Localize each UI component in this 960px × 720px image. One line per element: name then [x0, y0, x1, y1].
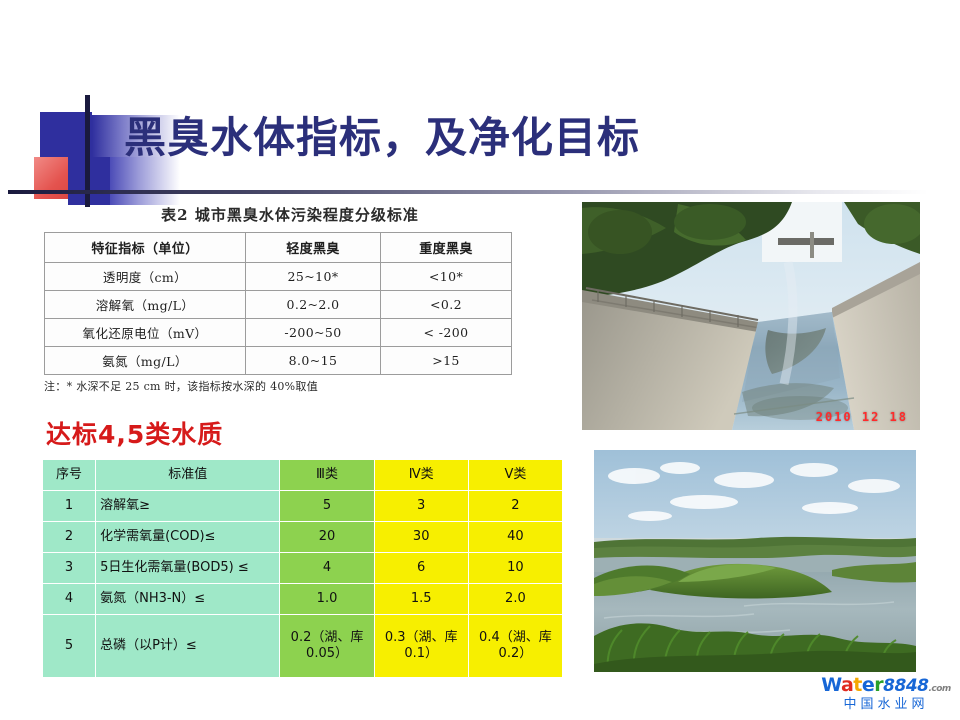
red-heading: 达标4,5类水质 [46, 415, 223, 451]
photo-urban-canal-image [582, 202, 920, 430]
watermark-letter-r: r [874, 674, 883, 696]
table-row: 5 总磷（以P计）≤ 0.2（湖、库0.05） 0.3（湖、库0.1） 0.4（… [43, 615, 562, 677]
watermark-subtitle: 中国水业网 [818, 698, 954, 711]
header-class-5: Ⅴ类 [469, 460, 562, 490]
cell-class-3: 4 [280, 553, 373, 583]
standards-table-block: 序号 标准值 Ⅲ类 Ⅳ类 Ⅴ类 1 溶解氧≥ 5 3 2 2 化学需氧量(COD… [42, 459, 563, 678]
watermark-number: 8848 [883, 676, 928, 696]
cell-class-3: 5 [280, 491, 373, 521]
cell-class-4: 6 [375, 553, 468, 583]
cell-class-4: 1.5 [375, 584, 468, 614]
table-row: 氨氮（mg/L） 8.0~15 >15 [45, 347, 512, 375]
table-row: 透明度（cm） 25~10* <10* [45, 263, 512, 291]
watermark-letter-a: a [841, 674, 853, 696]
watermark-letter-w: W [821, 674, 841, 696]
photo-date-stamp: 2010 12 18 [816, 410, 908, 424]
cell-class-5: 2.0 [469, 584, 562, 614]
cell-no: 1 [43, 491, 95, 521]
header-class-4: Ⅳ类 [375, 460, 468, 490]
header-value: 标准值 [96, 460, 279, 490]
cell-heavy: <10* [381, 263, 512, 291]
title-divider-rule [8, 190, 928, 194]
page-title: 黑臭水体指标，及净化目标 [124, 104, 640, 165]
cell-no: 4 [43, 584, 95, 614]
cell-class-4: 3 [375, 491, 468, 521]
cell-name: 溶解氧≥ [96, 491, 279, 521]
watermark-letter-t: t [853, 674, 862, 696]
table-row: 溶解氧（mg/L） 0.2~2.0 <0.2 [45, 291, 512, 319]
cell-class-4: 30 [375, 522, 468, 552]
header-no: 序号 [43, 460, 95, 490]
watermark-tld: .com [928, 684, 950, 694]
scanned-table: 特征指标（单位） 轻度黑臭 重度黑臭 透明度（cm） 25~10* <10* 溶… [44, 232, 512, 375]
standards-table: 序号 标准值 Ⅲ类 Ⅳ类 Ⅴ类 1 溶解氧≥ 5 3 2 2 化学需氧量(COD… [42, 459, 563, 678]
photo-wetland-image [594, 450, 916, 672]
cell-no: 5 [43, 615, 95, 677]
cell-indicator: 透明度（cm） [45, 263, 246, 291]
photo-wetland [594, 450, 916, 672]
scanned-table-footnote: 注：* 水深不足 25 cm 时，该指标按水深的 40%取值 [44, 378, 514, 394]
cell-heavy: < -200 [381, 319, 512, 347]
cell-no: 3 [43, 553, 95, 583]
cell-light: 0.2~2.0 [246, 291, 381, 319]
header-light: 轻度黑臭 [246, 233, 381, 263]
cell-class-5: 40 [469, 522, 562, 552]
cell-class-3: 20 [280, 522, 373, 552]
cell-name: 5日生化需氧量(BOD5) ≤ [96, 553, 279, 583]
header-indicator: 特征指标（单位） [45, 233, 246, 263]
scanned-table-caption: 表2 城市黑臭水体污染程度分级标准 [66, 204, 514, 225]
cell-class-4: 0.3（湖、库0.1） [375, 615, 468, 677]
table-header-row: 序号 标准值 Ⅲ类 Ⅳ类 Ⅴ类 [43, 460, 562, 490]
watermark-letter-e: e [862, 674, 874, 696]
watermark-wordmark: Water8848.com [818, 676, 954, 695]
cell-class-5: 10 [469, 553, 562, 583]
cell-heavy: <0.2 [381, 291, 512, 319]
cell-class-3: 0.2（湖、库0.05） [280, 615, 373, 677]
header-class-3: Ⅲ类 [280, 460, 373, 490]
watermark-logo: Water8848.com 中国水业网 [818, 676, 954, 711]
table-row: 1 溶解氧≥ 5 3 2 [43, 491, 562, 521]
header-heavy: 重度黑臭 [381, 233, 512, 263]
cell-name: 总磷（以P计）≤ [96, 615, 279, 677]
table-row: 3 5日生化需氧量(BOD5) ≤ 4 6 10 [43, 553, 562, 583]
photo-urban-canal: 2010 12 18 [582, 202, 920, 430]
cell-light: -200~50 [246, 319, 381, 347]
cell-class-5: 2 [469, 491, 562, 521]
cell-indicator: 氨氮（mg/L） [45, 347, 246, 375]
cell-name: 化学需氧量(COD)≤ [96, 522, 279, 552]
cell-indicator: 氧化还原电位（mV） [45, 319, 246, 347]
table-row: 2 化学需氧量(COD)≤ 20 30 40 [43, 522, 562, 552]
table-row: 氧化还原电位（mV） -200~50 < -200 [45, 319, 512, 347]
slide-root: 黑臭水体指标，及净化目标 表2 城市黑臭水体污染程度分级标准 特征指标（单位） … [0, 0, 960, 720]
cell-indicator: 溶解氧（mg/L） [45, 291, 246, 319]
cell-class-3: 1.0 [280, 584, 373, 614]
scanned-table-block: 表2 城市黑臭水体污染程度分级标准 特征指标（单位） 轻度黑臭 重度黑臭 透明度… [44, 204, 514, 394]
cell-light: 25~10* [246, 263, 381, 291]
cell-class-5: 0.4（湖、库0.2） [469, 615, 562, 677]
cell-heavy: >15 [381, 347, 512, 375]
cell-name: 氨氮（NH3-N）≤ [96, 584, 279, 614]
cell-no: 2 [43, 522, 95, 552]
table-header-row: 特征指标（单位） 轻度黑臭 重度黑臭 [45, 233, 512, 263]
table-row: 4 氨氮（NH3-N）≤ 1.0 1.5 2.0 [43, 584, 562, 614]
cell-light: 8.0~15 [246, 347, 381, 375]
